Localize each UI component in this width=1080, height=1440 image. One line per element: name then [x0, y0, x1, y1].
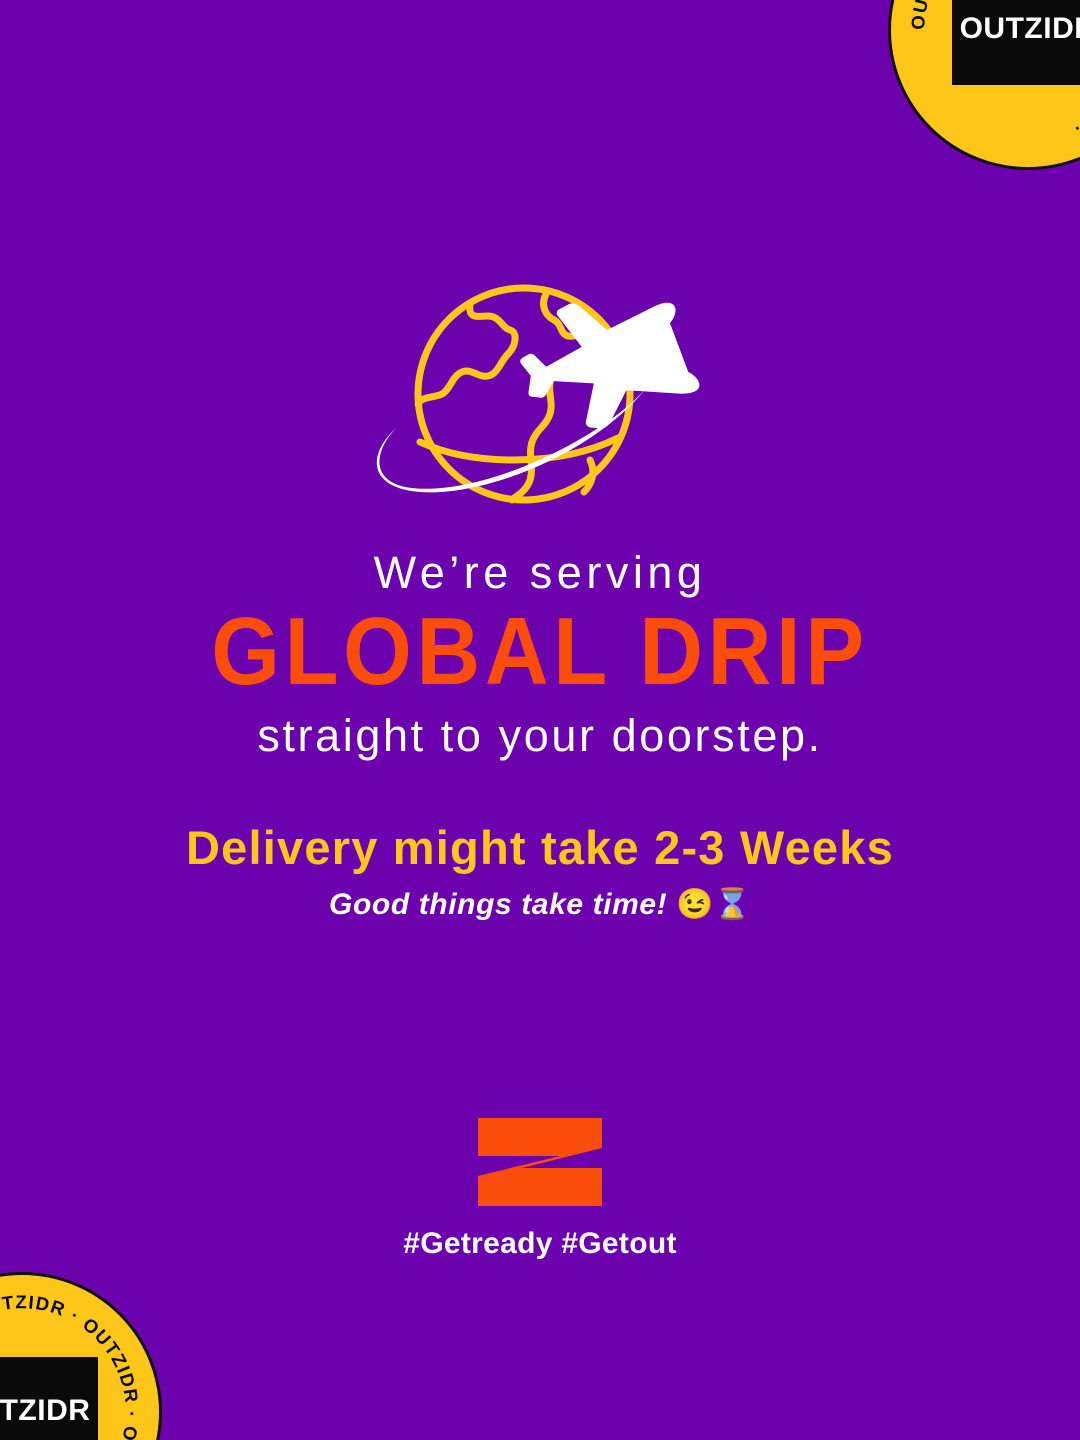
brand-badge-bottom-left: OUTZIDR · OUTZIDR · OUTZIDR · OUTZIDR · …: [0, 1272, 162, 1440]
badge-wordmark-label: OUTZIDR: [952, 12, 1080, 48]
delivery-subnote: Good things take time! 😉⌛: [0, 888, 1080, 921]
headline-block: We’re serving GLOBAL DRIP straight to yo…: [0, 548, 1080, 762]
globe-airplane-illustration: [350, 272, 730, 522]
promo-poster: OUTZIDR · OUTZIDR · OUTZIDR · OUTZIDR · …: [0, 0, 1080, 1440]
delivery-subnote-text: Good things take time!: [329, 888, 667, 921]
delivery-time-text: Delivery might take 2-3 Weeks: [0, 822, 1080, 874]
hashtags-text: #Getready #Getout: [0, 1227, 1080, 1261]
page-title: GLOBAL DRIP: [43, 604, 1037, 700]
badge-wordmark-label: OUTZIDR: [0, 1394, 98, 1430]
badge-wordmark: OUTZIDR: [928, 12, 1080, 48]
outzidr-z-logo-icon: [478, 1118, 602, 1206]
subline-text: straight to your doorstep.: [0, 710, 1080, 762]
brand-badge-top-right: OUTZIDR · OUTZIDR · OUTZIDR · OUTZIDR · …: [888, 0, 1080, 170]
badge-wordmark: OUTZIDR: [0, 1394, 122, 1430]
globe-airplane-icon: [350, 272, 730, 522]
eyebrow-text: We’re serving: [0, 548, 1080, 598]
wink-hourglass-emoji: 😉⌛: [676, 888, 751, 921]
footer-block: #Getready #Getout: [0, 1118, 1080, 1261]
delivery-notice-block: Delivery might take 2-3 Weeks Good thing…: [0, 822, 1080, 921]
